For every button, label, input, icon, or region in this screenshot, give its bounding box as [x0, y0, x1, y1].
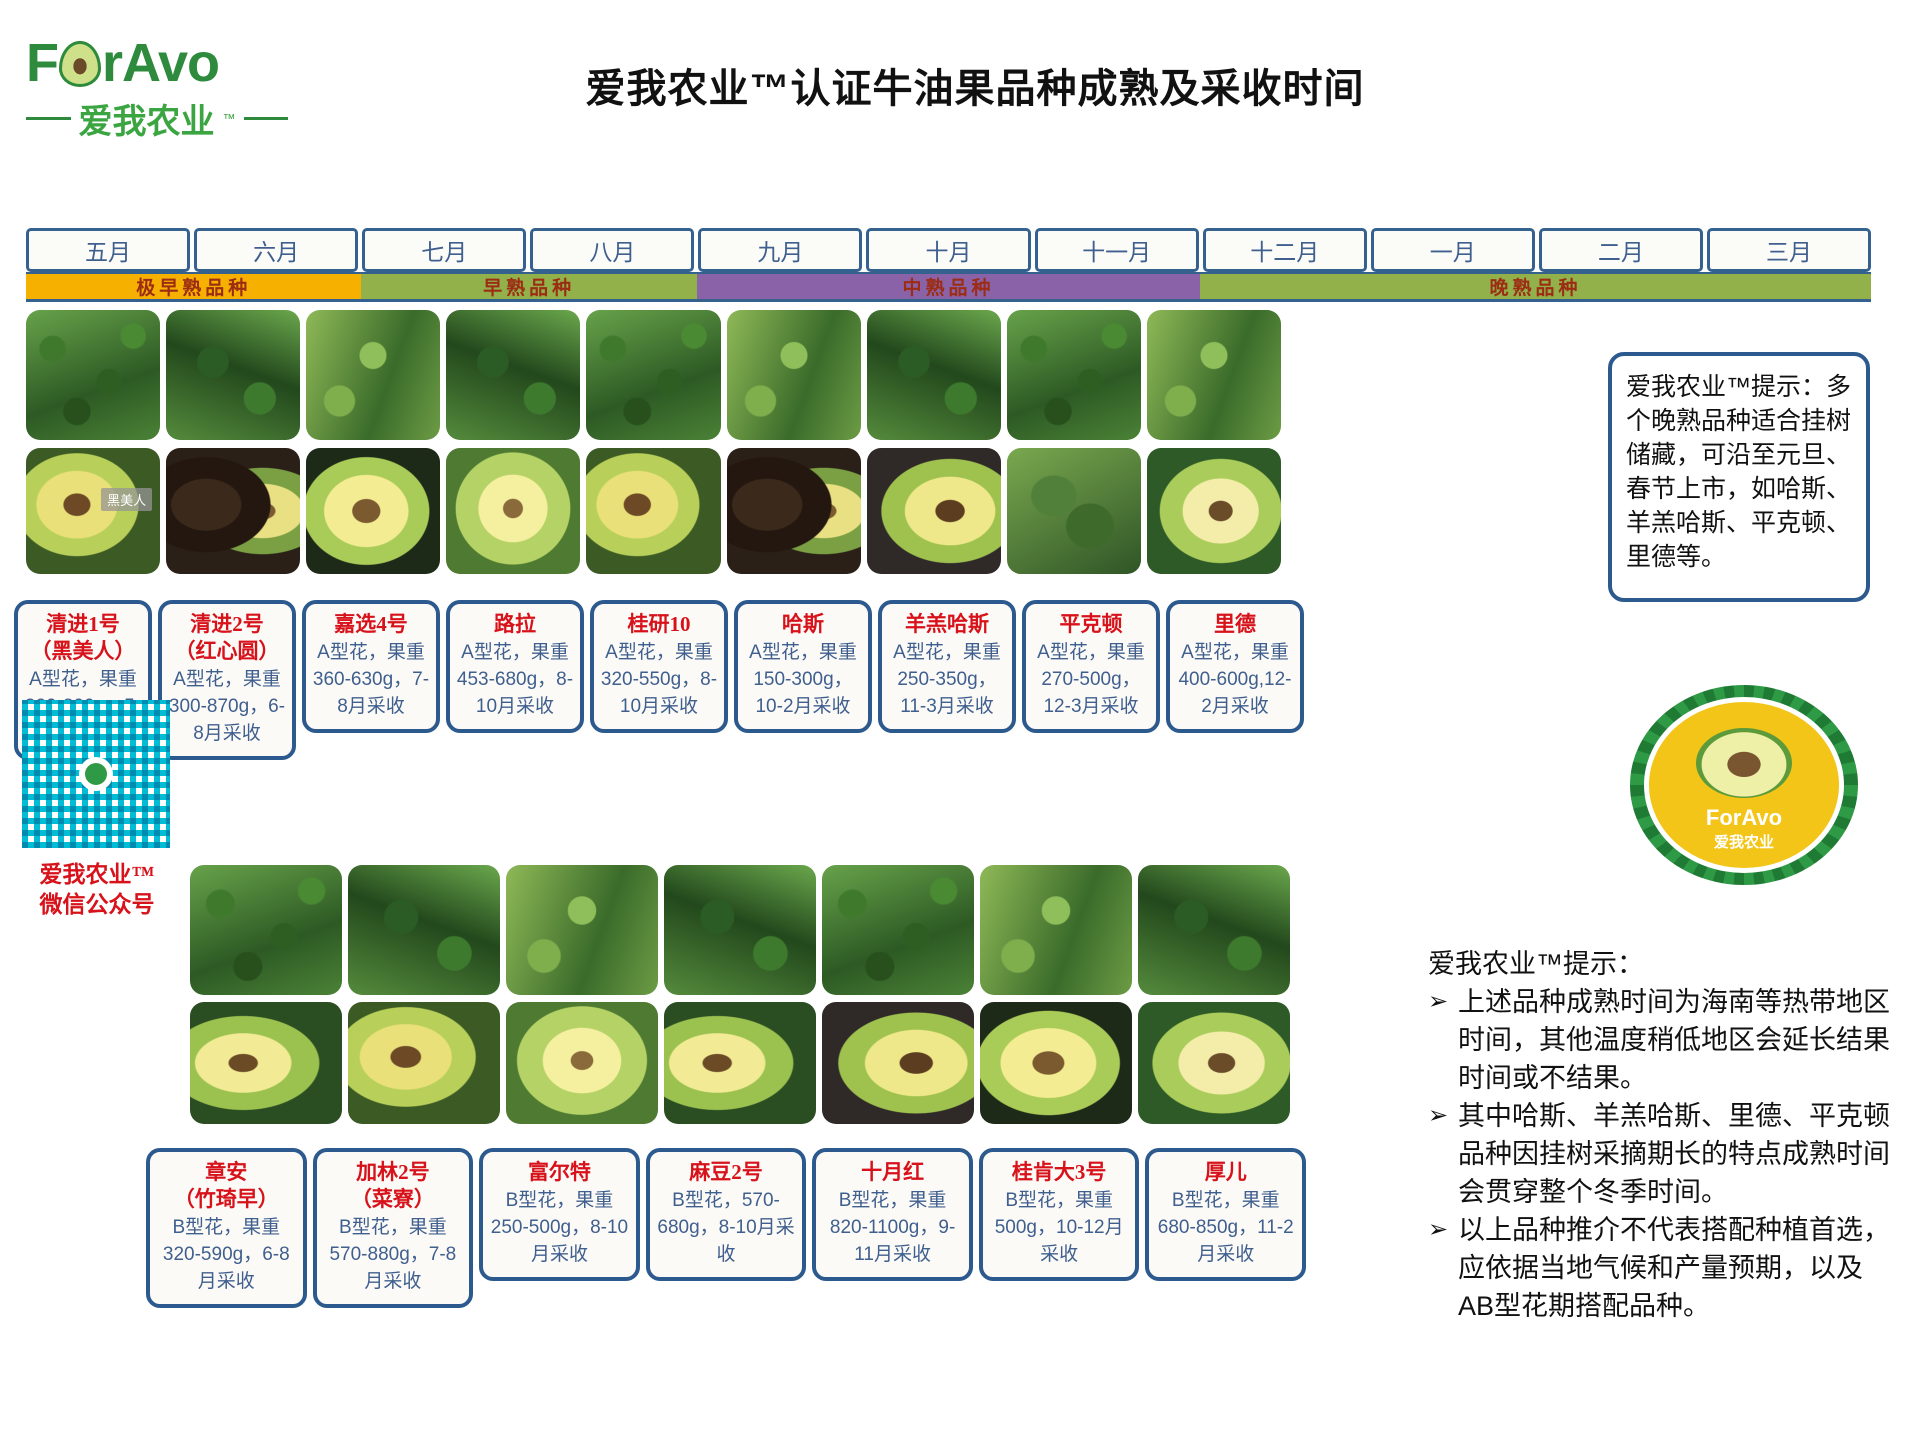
avocado-tree-photo-15 [980, 865, 1132, 995]
avocado-cut-photo-2 [166, 448, 300, 574]
photo-caption: 黑美人 [101, 488, 152, 511]
logo-chinese-name: 爱我农业 [79, 94, 215, 143]
avocado-cut-photo-15 [980, 1002, 1132, 1124]
variety-card-章安[interactable]: 章安（竹琦早）B型花，果重320-590g，6-8月采收 [146, 1148, 307, 1308]
variety-card-加林2号[interactable]: 加林2号（菜寮）B型花，果重570-880g，7-8月采收 [313, 1148, 474, 1308]
seal-avocado-icon [1696, 728, 1792, 798]
avocado-cut-photo-11 [348, 1002, 500, 1124]
avocado-tree-photo-1 [26, 310, 160, 440]
variety-name: 十月红 [822, 1159, 963, 1186]
bottom-tip-item: ➢以上品种推介不代表搭配种植首选，应依据当地气候和产量预期，以及AB型花期搭配品… [1428, 1211, 1898, 1325]
avocado-tree-photo-16 [1138, 865, 1290, 995]
month-cell-2: 六月 [194, 228, 358, 272]
variety-card-羊羔哈斯[interactable]: 羊羔哈斯A型花，果重250-350g，11-3月采收 [878, 600, 1016, 733]
variety-name: 清进1号 [24, 611, 142, 638]
seal-wordmark: ForAvo [1706, 805, 1782, 831]
avocado-tree-photo-6 [727, 310, 861, 440]
logo-rule-right [244, 117, 289, 120]
avocado-cut-photo-13 [664, 1002, 816, 1124]
variety-description: A型花，果重250-350g，11-3月采收 [888, 639, 1006, 720]
variety-description: A型花，果重360-630g，7-8月采收 [312, 639, 430, 720]
variety-name: 章安 [156, 1159, 297, 1186]
month-cell-11: 三月 [1707, 228, 1871, 272]
bottom-tip-text: 以上品种推介不代表搭配种植首选，应依据当地气候和产量预期，以及AB型花期搭配品种… [1458, 1211, 1898, 1325]
avocado-tree-photo-5 [586, 310, 720, 440]
bottom-tip-item: ➢上述品种成熟时间为海南等热带地区时间，其他温度稍低地区会延长结果时间或不结果。 [1428, 983, 1898, 1097]
variety-alias: （竹琦早） [156, 1186, 297, 1213]
bottom-tip-item: ➢其中哈斯、羊羔哈斯、里德、平克顿品种因挂树采摘期长的特点成熟时间会贯穿整个冬季… [1428, 1097, 1898, 1211]
variety-card-哈斯[interactable]: 哈斯A型花，果重150-300g，10-2月采收 [734, 600, 872, 733]
bottom-tips-list: ➢上述品种成熟时间为海南等热带地区时间，其他温度稍低地区会延长结果时间或不结果。… [1428, 983, 1898, 1325]
late-variety-tip-text: 爱我农业™提示：多个晚熟品种适合挂树储藏，可沿至元旦、春节上市，如哈斯、羊羔哈斯… [1626, 370, 1852, 574]
row2-fruit-photo-strip [190, 1002, 1290, 1124]
qr-code-icon[interactable] [22, 700, 170, 848]
bullet-arrow-icon: ➢ [1428, 1211, 1450, 1325]
variety-description: A型花，果重150-300g，10-2月采收 [744, 639, 862, 720]
seal-inner-disc: ForAvo 爱我农业 [1644, 697, 1844, 873]
qr-caption-line2: 微信公众号 [12, 890, 182, 920]
avocado-tree-photo-8 [1007, 310, 1141, 440]
variety-name: 桂研10 [600, 611, 718, 638]
variety-card-平克顿[interactable]: 平克顿A型花，果重270-500g，12-3月采收 [1022, 600, 1160, 733]
variety-description: A型花，果重400-600g,12-2月采收 [1176, 639, 1294, 720]
variety-name: 富尔特 [489, 1159, 630, 1186]
avocado-cut-photo-16 [1138, 1002, 1290, 1124]
bottom-tips-block: 爱我农业™提示： ➢上述品种成熟时间为海南等热带地区时间，其他温度稍低地区会延长… [1428, 945, 1898, 1325]
brand-seal: ForAvo 爱我农业 [1630, 685, 1858, 885]
avocado-cut-photo-7 [867, 448, 1001, 574]
variety-card-桂研10[interactable]: 桂研10A型花，果重320-550g，8-10月采收 [590, 600, 728, 733]
variety-card-路拉[interactable]: 路拉A型花，果重453-680g，8-10月采收 [446, 600, 584, 733]
month-cell-8: 十二月 [1203, 228, 1367, 272]
avocado-tree-photo-4 [446, 310, 580, 440]
variety-description: B型花，果重680-850g，11-2月采收 [1155, 1187, 1296, 1268]
avocado-tree-photo-12 [506, 865, 658, 995]
row2-tree-photo-strip [190, 865, 1290, 995]
season-band-2: 早熟品种 [361, 274, 696, 299]
row1-tree-photo-strip [26, 310, 1281, 440]
qr-center-dot [85, 763, 107, 785]
variety-card-十月红[interactable]: 十月红B型花，果重820-1100g，9-11月采收 [812, 1148, 973, 1281]
variety-alias: （菜寮） [323, 1186, 464, 1213]
month-cell-3: 七月 [362, 228, 526, 272]
avocado-tree-photo-2 [166, 310, 300, 440]
avocado-tree-photo-10 [190, 865, 342, 995]
logo-subline: 爱我农业 ™ [26, 94, 288, 143]
logo-tm-icon: ™ [223, 111, 236, 126]
variety-name: 加林2号 [323, 1159, 464, 1186]
row1-fruit-photo-strip: 黑美人 [26, 448, 1281, 574]
bottom-tip-text: 其中哈斯、羊羔哈斯、里德、平克顿品种因挂树采摘期长的特点成熟时间会贯穿整个冬季时… [1458, 1097, 1898, 1211]
avocado-cut-photo-8 [1007, 448, 1141, 574]
avocado-cut-photo-4 [446, 448, 580, 574]
bottom-tips-heading: 爱我农业™提示： [1428, 945, 1898, 983]
variety-description: B型花，果重570-880g，7-8月采收 [323, 1214, 464, 1295]
variety-description: B型花，果重820-1100g，9-11月采收 [822, 1187, 963, 1268]
brand-logo: FrAvo 爱我农业 ™ [26, 34, 288, 144]
variety-alias: （黑美人） [24, 638, 142, 665]
variety-card-桂肯大3号[interactable]: 桂肯大3号B型花，果重500g，10-12月采收 [979, 1148, 1140, 1281]
avocado-cut-photo-3 [306, 448, 440, 574]
bottom-tip-text: 上述品种成熟时间为海南等热带地区时间，其他温度稍低地区会延长结果时间或不结果。 [1458, 983, 1898, 1097]
month-cell-5: 九月 [698, 228, 862, 272]
variety-description: A型花，果重270-500g，12-3月采收 [1032, 639, 1150, 720]
logo-rule-left [26, 117, 71, 120]
month-cell-9: 一月 [1371, 228, 1535, 272]
season-band-row: 极早熟品种早熟品种中熟品种晚熟品种 [26, 272, 1871, 302]
variety-card-富尔特[interactable]: 富尔特B型花，果重250-500g，8-10月采收 [479, 1148, 640, 1281]
seal-chinese-name: 爱我农业 [1714, 831, 1774, 852]
avocado-tree-photo-7 [867, 310, 1001, 440]
variety-card-嘉选4号[interactable]: 嘉选4号A型花，果重360-630g，7-8月采收 [302, 600, 440, 733]
qr-center-logo [79, 757, 113, 791]
avocado-cut-photo-9 [1147, 448, 1281, 574]
row2-variety-cards: 章安（竹琦早）B型花，果重320-590g，6-8月采收加林2号（菜寮）B型花，… [146, 1148, 1306, 1308]
variety-name: 麻豆2号 [656, 1159, 797, 1186]
avocado-cut-photo-5 [586, 448, 720, 574]
avocado-tree-photo-14 [822, 865, 974, 995]
poster-root: FrAvo 爱我农业 ™ 爱我农业™认证牛油果品种成熟及采收时间 五月六月七月八… [0, 0, 1920, 1440]
variety-name: 里德 [1176, 611, 1294, 638]
variety-name: 厚儿 [1155, 1159, 1296, 1186]
qr-caption: 爱我农业™ 微信公众号 [12, 860, 182, 920]
avocado-logo-icon [59, 41, 101, 87]
avocado-tree-photo-11 [348, 865, 500, 995]
row1-variety-cards: 清进1号（黑美人）A型花，果重320-890g，5-7月采收清进2号（红心圆）A… [14, 600, 1304, 760]
season-band-3: 中熟品种 [697, 274, 1200, 299]
avocado-tree-photo-3 [306, 310, 440, 440]
season-band-1: 极早熟品种 [26, 274, 361, 299]
month-cell-10: 二月 [1539, 228, 1703, 272]
season-band-4: 晚熟品种 [1200, 274, 1871, 299]
avocado-cut-photo-1: 黑美人 [26, 448, 160, 574]
variety-description: B型花，果重500g，10-12月采收 [989, 1187, 1130, 1268]
month-cell-4: 八月 [530, 228, 694, 272]
variety-description: B型花，果重250-500g，8-10月采收 [489, 1187, 630, 1268]
late-variety-tip-box: 爱我农业™提示：多个晚熟品种适合挂树储藏，可沿至元旦、春节上市，如哈斯、羊羔哈斯… [1608, 352, 1870, 602]
qr-caption-line1: 爱我农业™ [12, 860, 182, 890]
variety-name: 路拉 [456, 611, 574, 638]
logo-wordmark: FrAvo [26, 34, 288, 92]
month-header-row: 五月六月七月八月九月十月十一月十二月一月二月三月 [26, 228, 1871, 272]
variety-name: 羊羔哈斯 [888, 611, 1006, 638]
variety-description: A型花，果重453-680g，8-10月采收 [456, 639, 574, 720]
avocado-cut-photo-10 [190, 1002, 342, 1124]
avocado-tree-photo-13 [664, 865, 816, 995]
avocado-tree-photo-9 [1147, 310, 1281, 440]
variety-alias: （红心圆） [168, 638, 286, 665]
variety-description: B型花，果重320-590g，6-8月采收 [156, 1214, 297, 1295]
variety-description: A型花，果重320-550g，8-10月采收 [600, 639, 718, 720]
avocado-cut-photo-14 [822, 1002, 974, 1124]
variety-card-清进2号[interactable]: 清进2号（红心圆）A型花，果重300-870g，6-8月采收 [158, 600, 296, 760]
bullet-arrow-icon: ➢ [1428, 1097, 1450, 1211]
month-cell-6: 十月 [866, 228, 1030, 272]
avocado-cut-photo-6 [727, 448, 861, 574]
bullet-arrow-icon: ➢ [1428, 983, 1450, 1097]
variety-name: 桂肯大3号 [989, 1159, 1130, 1186]
variety-name: 平克顿 [1032, 611, 1150, 638]
page-title: 爱我农业™认证牛油果品种成熟及采收时间 [400, 56, 1550, 114]
variety-description: A型花，果重300-870g，6-8月采收 [168, 666, 286, 747]
month-cell-1: 五月 [26, 228, 190, 272]
variety-name: 清进2号 [168, 611, 286, 638]
avocado-cut-photo-12 [506, 1002, 658, 1124]
month-cell-7: 十一月 [1035, 228, 1199, 272]
variety-description: B型花，570-680g，8-10月采收 [656, 1187, 797, 1268]
variety-name: 嘉选4号 [312, 611, 430, 638]
variety-card-厚儿[interactable]: 厚儿B型花，果重680-850g，11-2月采收 [1145, 1148, 1306, 1281]
variety-card-麻豆2号[interactable]: 麻豆2号B型花，570-680g，8-10月采收 [646, 1148, 807, 1281]
variety-name: 哈斯 [744, 611, 862, 638]
variety-card-里德[interactable]: 里德A型花，果重400-600g,12-2月采收 [1166, 600, 1304, 733]
